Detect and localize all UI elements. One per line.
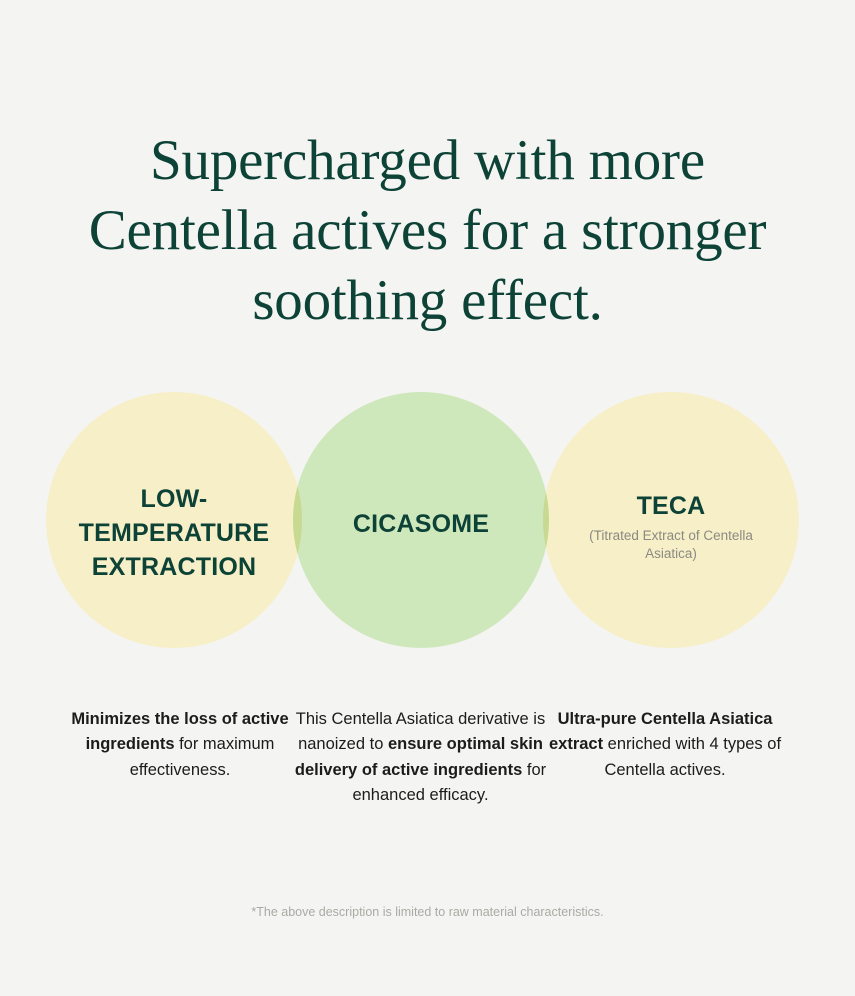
headline-line-2: Centella actives for a stronger [0,196,855,266]
circle-low-temperature-extraction: LOW-TEMPERATURE EXTRACTION [46,392,302,648]
headline-line-1: Supercharged with more [0,126,855,196]
circle-teca: TECA (Titrated Extract of Centella Asiat… [543,392,799,648]
circle-label-cicasome: CICASOME [306,508,536,540]
headline-line-3: soothing effect. [0,266,855,336]
circle-label-teca: TECA [561,491,781,521]
venn-circles-group: LOW-TEMPERATURE EXTRACTION CICASOME TECA… [0,392,855,650]
page-title: Supercharged with more Centella actives … [0,126,855,336]
circle-cicasome: CICASOME [293,392,549,648]
description-cicasome: This Centella Asiatica derivative is nan… [294,707,547,809]
description-teca: Ultra-pure Centella Asiatica extract enr… [540,707,790,784]
description-columns: Minimizes the loss of active ingredients… [0,690,855,840]
infographic-page: Supercharged with more Centella actives … [0,0,855,996]
circle-sublabel-teca: (Titrated Extract of Centella Asiatica) [566,527,776,563]
circle-label-low-temperature-extraction: LOW-TEMPERATURE EXTRACTION [67,482,282,584]
description-rest-2: enriched with 4 types of Centella active… [603,735,781,779]
footnote-disclaimer: *The above description is limited to raw… [0,904,855,921]
description-low-temperature-extraction: Minimizes the loss of active ingredients… [55,707,305,784]
